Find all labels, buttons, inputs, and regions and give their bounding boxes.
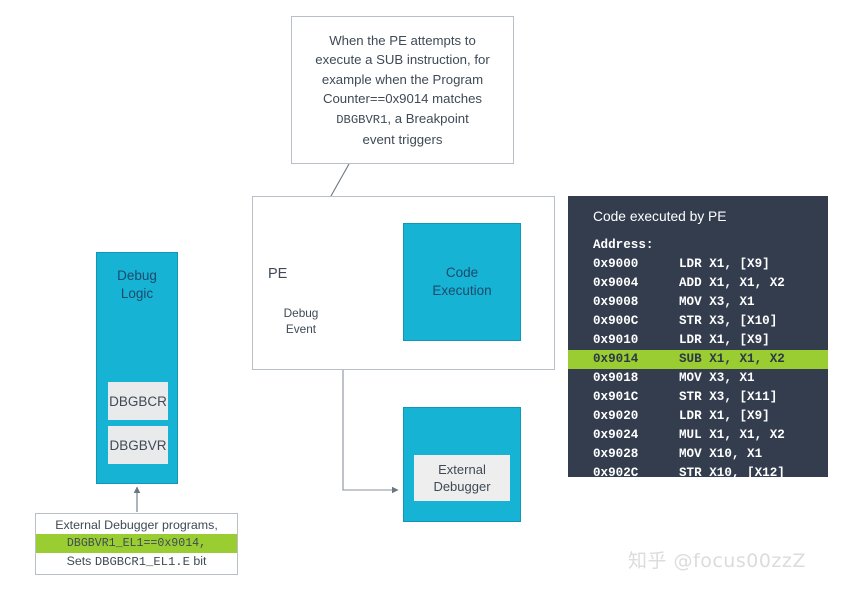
register-dbgbcr: DBGBCR (108, 382, 168, 420)
external-debugger-line-2: Debugger (433, 479, 490, 494)
callout-text: When the PE attempts to execute a SUB in… (315, 31, 489, 150)
callout-line-1: When the PE attempts to (329, 33, 476, 48)
note-line-3: Sets DBGBCR1_EL1.E bit (67, 553, 207, 571)
code-row-address: 0x9000 (593, 255, 679, 274)
code-row-instruction: LDR X1, [X9] (679, 331, 828, 350)
code-panel: Code executed by PE Address: 0x9000LDR X… (568, 196, 828, 477)
code-panel-title: Code executed by PE (593, 209, 726, 224)
callout-register-name: DBGBVR1 (336, 113, 387, 127)
note-line-3-prefix: Sets (67, 554, 95, 568)
code-row-address: 0x902C (593, 464, 679, 483)
code-address-header-label: Address: (593, 236, 679, 255)
note-line-3-register: DBGBCR1_EL1.E (95, 555, 190, 569)
callout-line-2: execute a SUB instruction, for (315, 52, 489, 67)
code-row-instruction: ADD X1, X1, X2 (679, 274, 828, 293)
code-row-address: 0x9028 (593, 445, 679, 464)
code-row-instruction: SUB X1, X1, X2 (679, 350, 828, 369)
code-row: 0x9010LDR X1, [X9] (568, 331, 828, 350)
external-debugger-label: External Debugger (414, 455, 510, 501)
external-debugger-box: External Debugger (403, 407, 521, 522)
code-row: 0x900CSTR X3, [X10] (568, 312, 828, 331)
code-row-instruction: MOV X10, X1 (679, 445, 828, 464)
callout-line-5-rest: , a Breakpoint (387, 111, 468, 126)
code-row-address: 0x9020 (593, 407, 679, 426)
note-line-2-highlighted: DBGBVR1_EL1==0x9014, (36, 534, 237, 553)
code-row: 0x9004ADD X1, X1, X2 (568, 274, 828, 293)
watermark: 知乎 @focus00zzZ (628, 546, 806, 573)
code-row-address: 0x9024 (593, 426, 679, 445)
code-row-instruction: LDR X1, [X9] (679, 407, 828, 426)
pe-label: PE (268, 266, 287, 282)
code-execution-label: Code Execution (432, 264, 491, 300)
code-row-address: 0x9008 (593, 293, 679, 312)
code-row-instruction: STR X3, [X10] (679, 312, 828, 331)
note-line-3-suffix: bit (190, 554, 207, 568)
code-row-address: 0x901C (593, 388, 679, 407)
code-row-address: 0x9004 (593, 274, 679, 293)
code-row: 0x9008MOV X3, X1 (568, 293, 828, 312)
debug-event-label: Debug Event (278, 305, 324, 337)
code-row: 0x9018MOV X3, X1 (568, 369, 828, 388)
register-dbgbvr: DBGBVR (108, 426, 168, 464)
code-row-instruction: LDR X1, [X9] (679, 255, 828, 274)
code-row: 0x901CSTR X3, [X11] (568, 388, 828, 407)
code-execution-line-2: Execution (432, 283, 491, 298)
code-row: 0x9024MUL X1, X1, X2 (568, 426, 828, 445)
code-row-address: 0x9018 (593, 369, 679, 388)
code-row: 0x902CSTR X10, [X12] (568, 464, 828, 483)
callout-line-4: Counter==0x9014 matches (323, 91, 482, 106)
debug-logic-box: Debug Logic DBGBCR DBGBVR (96, 252, 178, 484)
debug-logic-title-line-2: Logic (121, 286, 153, 301)
code-row: 0x9000LDR X1, [X9] (568, 255, 828, 274)
code-row-instruction: MUL X1, X1, X2 (679, 426, 828, 445)
code-row-instruction: STR X10, [X12] (679, 464, 828, 483)
code-row: 0x9014SUB X1, X1, X2 (568, 350, 828, 369)
code-listing: Address: 0x9000LDR X1, [X9]0x9004ADD X1,… (568, 236, 828, 483)
code-row-instruction: STR X3, [X11] (679, 388, 828, 407)
code-execution-box: Code Execution (403, 223, 521, 341)
code-row-address: 0x9010 (593, 331, 679, 350)
callout-line-3: example when the Program (322, 72, 483, 87)
note-line-1: External Debugger programs, (55, 517, 218, 534)
code-row-instruction: MOV X3, X1 (679, 293, 828, 312)
debug-logic-title-line-1: Debug (117, 268, 157, 283)
register-dbgbcr-label: DBGBCR (109, 394, 167, 409)
register-dbgbvr-label: DBGBVR (109, 438, 166, 453)
code-row: 0x9028MOV X10, X1 (568, 445, 828, 464)
callout-box: When the PE attempts to execute a SUB in… (291, 16, 514, 164)
code-execution-line-1: Code (446, 265, 478, 280)
code-row-instruction: MOV X3, X1 (679, 369, 828, 388)
callout-line-6: event triggers (363, 132, 443, 147)
diagram-canvas: When the PE attempts to execute a SUB in… (0, 0, 865, 596)
external-debugger-note-box: External Debugger programs, DBGBVR1_EL1=… (35, 513, 238, 575)
code-row-address: 0x9014 (593, 350, 679, 369)
code-row-address: 0x900C (593, 312, 679, 331)
external-debugger-line-1: External (438, 462, 486, 477)
code-address-header: Address: (568, 236, 828, 255)
code-row: 0x9020LDR X1, [X9] (568, 407, 828, 426)
debug-logic-title: Debug Logic (117, 267, 157, 303)
